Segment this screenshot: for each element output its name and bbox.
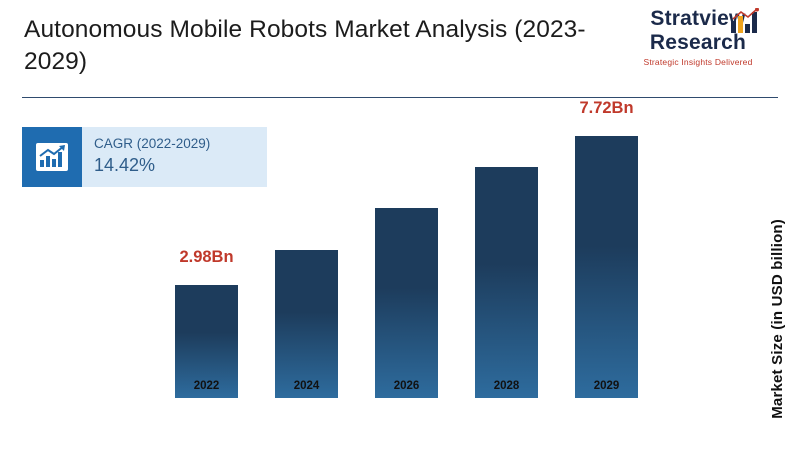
y-axis-title: Market Size (in USD billion) <box>769 219 786 419</box>
x-tick-2026: 2026 <box>357 380 456 392</box>
x-tick-2024: 2024 <box>257 380 356 392</box>
bar-2029 <box>575 136 638 398</box>
x-tick-2022: 2022 <box>157 380 256 392</box>
bar-2024 <box>275 250 338 398</box>
chart-plot-area: 2.98Bn 2022 2024 2026 2028 7.72Bn 2029 <box>120 110 680 430</box>
bar-chart-arrow-icon <box>730 8 760 34</box>
x-tick-2029: 2029 <box>557 380 656 392</box>
logo-tagline: Strategic Insights Delivered <box>618 57 778 67</box>
bar-value-label-2029: 7.72Bn <box>557 99 656 118</box>
x-tick-2028: 2028 <box>457 380 556 392</box>
bar-2026 <box>375 208 438 398</box>
bar-2028 <box>475 167 538 398</box>
header-divider <box>22 97 778 98</box>
page-title: Autonomous Mobile Robots Market Analysis… <box>24 14 644 79</box>
bar-value-label-2022: 2.98Bn <box>157 248 256 267</box>
page-header: Autonomous Mobile Robots Market Analysis… <box>0 0 800 100</box>
bar-chart: 2.98Bn 2022 2024 2026 2028 7.72Bn 2029 M… <box>0 100 800 455</box>
brand-logo: Stratview Research Strategic Insights De… <box>618 8 778 67</box>
logo-text-secondary: Research <box>618 31 778 54</box>
